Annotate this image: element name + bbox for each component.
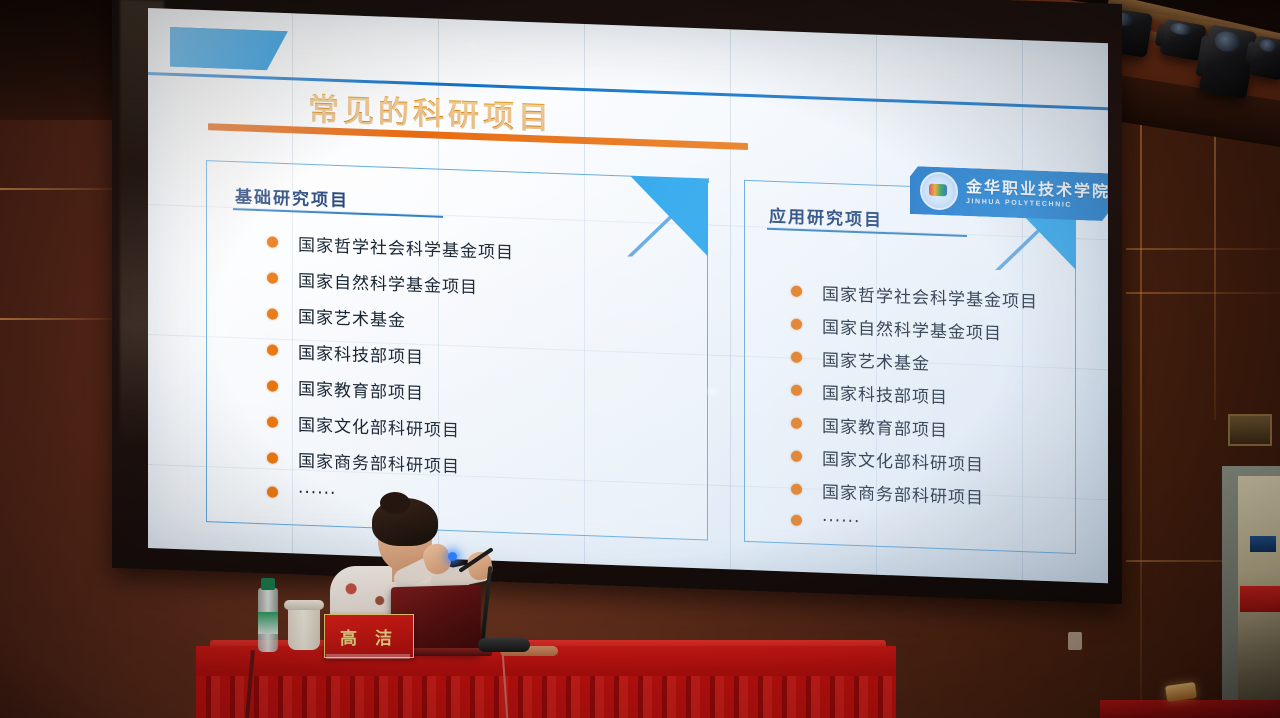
list-item: 国家艺术基金	[267, 301, 514, 335]
list-item: 国家科技部项目	[791, 378, 1038, 412]
wall-seam	[1126, 248, 1280, 250]
bullet-dot-icon	[267, 344, 278, 355]
institution-logo: 金华职业技术学院 JINHUA POLYTECHNIC	[910, 166, 1108, 221]
bullet-dot-icon	[791, 385, 802, 396]
bullet-dot-icon	[791, 319, 802, 330]
list-item-label: 国家文化部科研项目	[298, 411, 460, 442]
bullet-dot-icon	[267, 272, 278, 283]
nameplate-text: 高 洁	[340, 624, 398, 649]
wall-outlet	[1068, 632, 1082, 650]
list-item-label: 国家艺术基金	[822, 346, 930, 375]
list-item: 国家艺术基金	[791, 345, 1038, 379]
list-item-label: 国家哲学社会科学基金项目	[298, 231, 514, 264]
stage-light	[1248, 35, 1280, 81]
wall-seam	[0, 188, 118, 190]
bullet-dot-icon	[267, 486, 278, 497]
water-bottle	[258, 588, 278, 652]
wall-seam	[1214, 120, 1216, 420]
bullet-dot-icon	[791, 286, 802, 297]
bullet-dot-icon	[267, 416, 278, 427]
wall-seam	[1126, 292, 1280, 294]
door-banner	[1240, 586, 1280, 612]
list-item: 国家商务部科研项目	[267, 445, 514, 479]
bullet-dot-icon	[267, 308, 278, 319]
presenter-hair-bun	[380, 492, 410, 514]
list-item-label: 国家教育部项目	[298, 375, 424, 405]
door-monitor	[1250, 536, 1276, 552]
list-item-label: ······	[822, 511, 860, 532]
bullet-dot-icon	[267, 452, 278, 463]
list-item-label: 国家科技部项目	[822, 379, 948, 409]
list-item-label: 国家教育部项目	[822, 412, 948, 442]
list-item: ······	[791, 510, 1038, 539]
list-item: 国家文化部科研项目	[267, 409, 514, 443]
microphone-base	[478, 638, 530, 652]
list-item: 国家哲学社会科学基金项目	[791, 279, 1038, 313]
list-item: 国家商务部科研项目	[791, 477, 1038, 511]
list-item-label: 国家自然科学基金项目	[298, 267, 478, 299]
column-heading-basic: 基础研究项目	[235, 182, 349, 211]
bullet-dot-icon	[791, 484, 802, 495]
list-item-label: 国家科技部项目	[298, 339, 424, 369]
bullet-dot-icon	[267, 236, 278, 247]
list-item: 国家自然科学基金项目	[267, 265, 514, 299]
applied-research-list: 国家哲学社会科学基金项目国家自然科学基金项目国家艺术基金国家科技部项目国家教育部…	[791, 279, 1038, 547]
list-item-label: 国家文化部科研项目	[822, 445, 984, 476]
screenshot-root: 常见的科研项目 基础研究项目 国家哲学社会科学基金项目国家自然科学基金项目国家艺…	[0, 0, 1280, 718]
column-heading-applied: 应用研究项目	[769, 202, 883, 231]
list-item-label: 国家艺术基金	[298, 303, 406, 332]
bullet-dot-icon	[791, 418, 802, 429]
bullet-dot-icon	[267, 380, 278, 391]
slide-title: 常见的科研项目	[308, 84, 553, 138]
list-item-label: 国家商务部科研项目	[822, 478, 984, 509]
list-item-label: 国家哲学社会科学基金项目	[822, 280, 1038, 313]
list-item: 国家科技部项目	[267, 337, 514, 371]
tea-cup	[288, 606, 320, 650]
list-item-label: ······	[298, 483, 336, 504]
bullet-dot-icon	[791, 451, 802, 462]
slide-flag-decoration	[170, 27, 288, 71]
applied-research-panel: 应用研究项目 国家哲学社会科学基金项目国家自然科学基金项目国家艺术基金国家科技部…	[744, 180, 1076, 554]
presenter-nameplate: 高 洁	[324, 614, 414, 658]
logo-emblem-icon	[920, 171, 958, 210]
list-item: 国家哲学社会科学基金项目	[267, 229, 514, 263]
list-item-label: 国家商务部科研项目	[298, 447, 460, 478]
list-item: 国家文化部科研项目	[791, 444, 1038, 478]
bullet-dot-icon	[791, 352, 802, 363]
wall-seam	[0, 318, 112, 320]
bullet-dot-icon	[791, 514, 802, 525]
led-video-wall: 常见的科研项目 基础研究项目 国家哲学社会科学基金项目国家自然科学基金项目国家艺…	[148, 8, 1108, 583]
list-item: 国家自然科学基金项目	[791, 312, 1038, 346]
tea-cup-lid	[284, 600, 324, 610]
list-item: 国家教育部项目	[791, 411, 1038, 445]
list-item: 国家教育部项目	[267, 373, 514, 407]
wall-seam	[1140, 120, 1142, 718]
wall-picture	[1228, 414, 1272, 446]
basic-research-panel: 基础研究项目 国家哲学社会科学基金项目国家自然科学基金项目国家艺术基金国家科技部…	[206, 160, 708, 540]
basic-research-list: 国家哲学社会科学基金项目国家自然科学基金项目国家艺术基金国家科技部项目国家教育部…	[267, 229, 514, 521]
list-item-label: 国家自然科学基金项目	[822, 313, 1002, 345]
stage-floor	[1100, 700, 1280, 718]
nameplate-stand	[326, 654, 410, 659]
desk-skirt	[196, 676, 896, 718]
microphone-led-icon	[448, 552, 457, 561]
